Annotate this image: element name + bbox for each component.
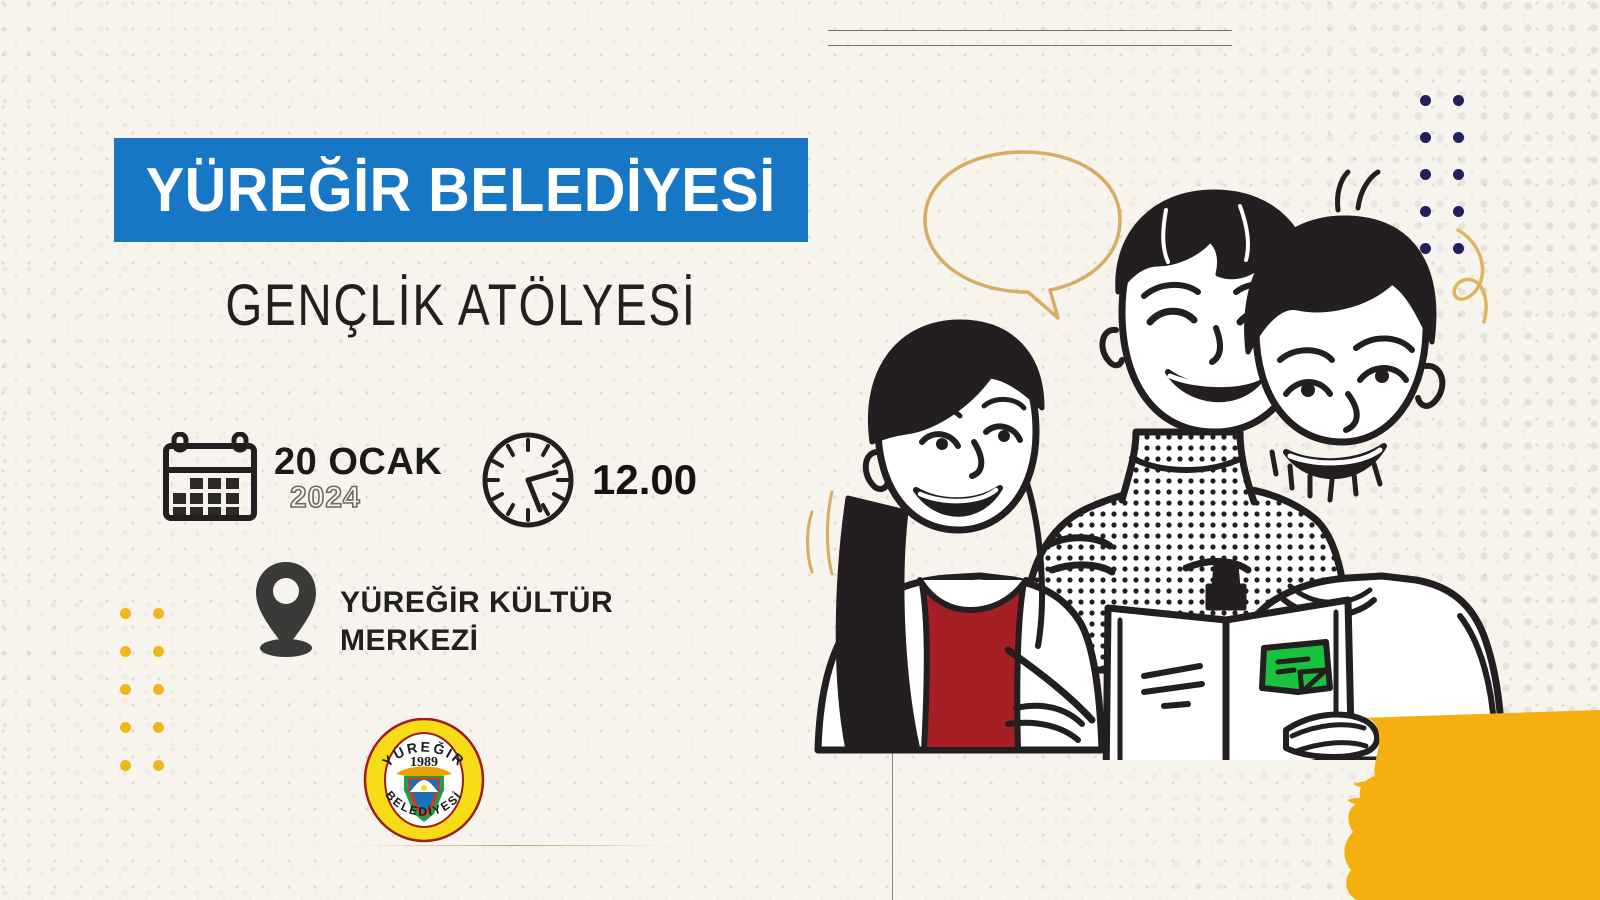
clock-icon <box>478 430 578 530</box>
venue-line-1: YÜREĞİR KÜLTÜR <box>340 584 613 622</box>
yellow-brush-stroke <box>1317 710 1600 900</box>
yellow-dot <box>153 646 164 657</box>
yellow-dot <box>120 646 131 657</box>
map-pin-icon <box>252 560 320 660</box>
decorative-squiggle-right <box>1454 230 1486 322</box>
yellow-dot <box>120 608 131 619</box>
date-year: 2024 <box>290 483 442 513</box>
organization-banner: YÜREĞİR BELEDİYESİ <box>114 138 808 242</box>
municipality-logo: 1989 YÜREĞİR BELEDİYESİ <box>362 718 487 843</box>
speech-bubble-icon <box>925 152 1120 318</box>
organization-title: YÜREĞİR BELEDİYESİ <box>146 155 776 226</box>
yellow-dot <box>153 722 164 733</box>
three-young-people-illustration <box>770 60 1600 760</box>
yellow-dot <box>153 760 164 771</box>
event-poster: YÜREĞİR BELEDİYESİ GENÇLİK ATÖLYESİ 20 O… <box>0 0 1600 900</box>
date-day-month: 20 OCAK <box>274 443 442 481</box>
logo-underline <box>357 845 667 846</box>
rule-line-1 <box>828 30 1232 31</box>
decorative-squiggle-left <box>808 492 833 574</box>
green-sticky-note-icon <box>1262 642 1330 692</box>
yellow-dot <box>120 722 131 733</box>
date-info: 20 OCAK 2024 <box>160 432 442 524</box>
yellow-dot <box>120 684 131 695</box>
time-info: 12.00 <box>478 430 697 530</box>
yellow-dot <box>153 684 164 695</box>
decorative-rule-lines <box>828 30 1232 46</box>
calendar-icon <box>160 432 260 524</box>
venue-line-2: MERKEZİ <box>340 622 613 660</box>
event-title: GENÇLİK ATÖLYESİ <box>176 272 745 339</box>
yellow-dot-grid <box>120 608 164 771</box>
logo-year: 1989 <box>410 755 438 770</box>
yellow-dot <box>120 760 131 771</box>
yellow-dot <box>153 608 164 619</box>
rule-line-2 <box>828 45 1232 46</box>
time-value: 12.00 <box>592 456 697 504</box>
venue-info: YÜREĞİR KÜLTÜR MERKEZİ <box>252 560 613 660</box>
